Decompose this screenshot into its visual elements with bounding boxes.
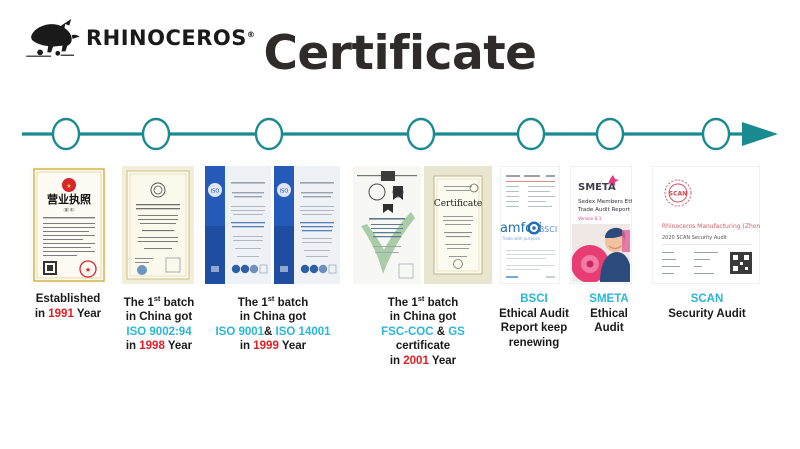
svg-text:SCAN: SCAN (669, 191, 687, 198)
svg-text:Version 6.1: Version 6.1 (578, 216, 602, 221)
caption-line: certificate (352, 339, 494, 354)
caption-text: 2001 (403, 355, 429, 367)
caption-text: Report keep (501, 322, 567, 334)
caption-iso-9002: The 1st batchin China gotISO 9002:94in 1… (112, 292, 206, 354)
right-arrow-icon (742, 122, 778, 146)
caption-text: Year (429, 355, 456, 367)
caption-line: FSC-COC & GS (352, 325, 494, 340)
caption-line: SMETA (574, 292, 644, 307)
certificate-slot-iso-9001-14001[interactable]: ISO (202, 166, 342, 284)
timeline-node-2[interactable] (143, 119, 169, 149)
svg-text:ISO: ISO (210, 189, 219, 195)
certificate-slot-iso-9002[interactable] (120, 166, 196, 284)
certificate-slot-fsc-gs[interactable]: Certificate (352, 166, 492, 284)
svg-text:SMETA: SMETA (578, 182, 616, 193)
svg-text:Rhinoceros Manufacturing (Zhon: Rhinoceros Manufacturing (Zhongshan) Ltd (662, 223, 760, 230)
caption-text: & (264, 326, 276, 338)
svg-text:BSCI: BSCI (539, 225, 557, 234)
caption-text: Ethical Audit (499, 308, 569, 320)
caption-text: batch (274, 297, 308, 309)
caption-line: in China got (112, 310, 206, 325)
certificate-slot-business-license[interactable]: ★ 营业执照 （副 本） ★ (26, 166, 112, 284)
caption-text: Year (165, 340, 192, 352)
caption-line: The 1st batch (352, 292, 494, 310)
amfori-bsci-report-image[interactable]: amfori BSCI Trade with purpose (500, 166, 560, 284)
timeline-node-6[interactable] (597, 119, 623, 149)
caption-fsc-gs: The 1st batchin China gotFSC-COC & GScer… (352, 292, 494, 368)
caption-text: GS (448, 326, 465, 338)
caption-bsci: BSCIEthical AuditReport keeprenewing (492, 292, 576, 350)
caption-text: batch (160, 297, 194, 309)
caption-text: in China got (126, 311, 192, 323)
page-title: Certificate (0, 26, 800, 81)
caption-text: FSC-COC (381, 326, 433, 338)
svg-text:Sedex Members Ethical: Sedex Members Ethical (578, 199, 632, 205)
svg-text:ISO: ISO (279, 189, 288, 195)
caption-line: The 1st batch (112, 292, 206, 310)
svg-text:★: ★ (66, 183, 71, 190)
fsc-coc-certificate-image[interactable] (353, 166, 421, 284)
caption-line: Ethical (574, 307, 644, 322)
caption-text: ISO 14001 (276, 326, 331, 338)
iso-9002-certificate-image[interactable] (122, 166, 194, 284)
svg-text:★: ★ (85, 266, 91, 274)
timeline-node-3[interactable] (256, 119, 282, 149)
caption-text: certificate (396, 340, 450, 352)
caption-line: in 1991 Year (18, 307, 118, 322)
caption-text: renewing (509, 337, 559, 349)
caption-text: BSCI (520, 293, 547, 305)
caption-line: ISO 9002:94 (112, 325, 206, 340)
caption-scan: SCANSecurity Audit (648, 292, 766, 321)
caption-line: The 1st batch (198, 292, 348, 310)
caption-text: in China got (240, 311, 306, 323)
caption-text: ISO 9001 (215, 326, 264, 338)
svg-text:2020 SCAN Security Audit: 2020 SCAN Security Audit (662, 235, 727, 241)
certificate-slot-smeta[interactable]: SMETA Sedex Members Ethical Trade Audit … (568, 166, 634, 284)
svg-text:Certificate: Certificate (433, 199, 481, 209)
caption-text: batch (424, 297, 458, 309)
iso-14001-certificate-image[interactable]: ISO (274, 166, 340, 284)
caption-text: ISO 9002:94 (126, 326, 191, 338)
caption-line: Report keep (492, 321, 576, 336)
caption-text: Established (36, 293, 101, 305)
timeline-node-4[interactable] (408, 119, 434, 149)
caption-line: in 1999 Year (198, 339, 348, 354)
caption-text: The 1 (388, 297, 418, 309)
timeline (0, 112, 800, 156)
certificate-image-row: ★ 营业执照 （副 本） ★ (0, 166, 800, 284)
timeline-node-5[interactable] (518, 119, 544, 149)
caption-line: Security Audit (648, 307, 766, 322)
caption-business-license: Establishedin 1991 Year (18, 292, 118, 321)
caption-line: ISO 9001& ISO 14001 (198, 325, 348, 340)
chinese-business-license-image[interactable]: ★ 营业执照 （副 本） ★ (30, 166, 108, 284)
caption-text: Year (74, 308, 101, 320)
caption-text: & (434, 326, 449, 338)
caption-iso-9001-14001: The 1st batchin China gotISO 9001& ISO 1… (198, 292, 348, 354)
smeta-audit-report-image[interactable]: SMETA Sedex Members Ethical Trade Audit … (570, 166, 632, 284)
caption-text: Security Audit (668, 308, 746, 320)
caption-line: in China got (198, 310, 348, 325)
caption-line: in China got (352, 310, 494, 325)
caption-text: in (240, 340, 253, 352)
caption-line: BSCI (492, 292, 576, 307)
caption-text: Ethical (590, 308, 628, 320)
iso-9001-certificate-image[interactable]: ISO (205, 166, 271, 284)
timeline-node-1[interactable] (53, 119, 79, 149)
caption-line: in 2001 Year (352, 354, 494, 369)
caption-line: in 1998 Year (112, 339, 206, 354)
caption-text: 1999 (253, 340, 279, 352)
caption-text: in (390, 355, 403, 367)
caption-line: renewing (492, 336, 576, 351)
caption-text: Year (279, 340, 306, 352)
caption-text: 1991 (48, 308, 74, 320)
caption-text: SCAN (691, 293, 724, 305)
caption-text: The 1 (238, 297, 268, 309)
caption-line: SCAN (648, 292, 766, 307)
caption-text: in (35, 308, 48, 320)
caption-text: Audit (594, 322, 623, 334)
certificate-slot-scan[interactable]: SCAN Rhinoceros Manufacturing (Zhongshan… (650, 166, 762, 284)
svg-text:（副 本）: （副 本） (61, 207, 77, 212)
timeline-node-7[interactable] (703, 119, 729, 149)
svg-text:Trade with purpose: Trade with purpose (501, 236, 541, 241)
scan-security-audit-certificate-image[interactable]: SCAN Rhinoceros Manufacturing (Zhongshan… (652, 166, 760, 284)
caption-text: in (126, 340, 139, 352)
gs-certificate-image[interactable]: Certificate (424, 166, 492, 284)
caption-text: 1998 (139, 340, 165, 352)
svg-text:Trade Audit Report: Trade Audit Report (577, 207, 631, 213)
svg-text:营业执照: 营业执照 (47, 192, 91, 206)
caption-smeta: SMETAEthicalAudit (574, 292, 644, 336)
caption-text: in China got (390, 311, 456, 323)
caption-line: Ethical Audit (492, 307, 576, 322)
caption-line: Audit (574, 321, 644, 336)
caption-text: The 1 (124, 297, 154, 309)
caption-line: Established (18, 292, 118, 307)
caption-text: SMETA (589, 293, 628, 305)
certificate-slide: RHINOCEROS® Certificate ★ 营业执照 (0, 0, 800, 449)
certificate-slot-bsci[interactable]: amfori BSCI Trade with purpose (498, 166, 562, 284)
